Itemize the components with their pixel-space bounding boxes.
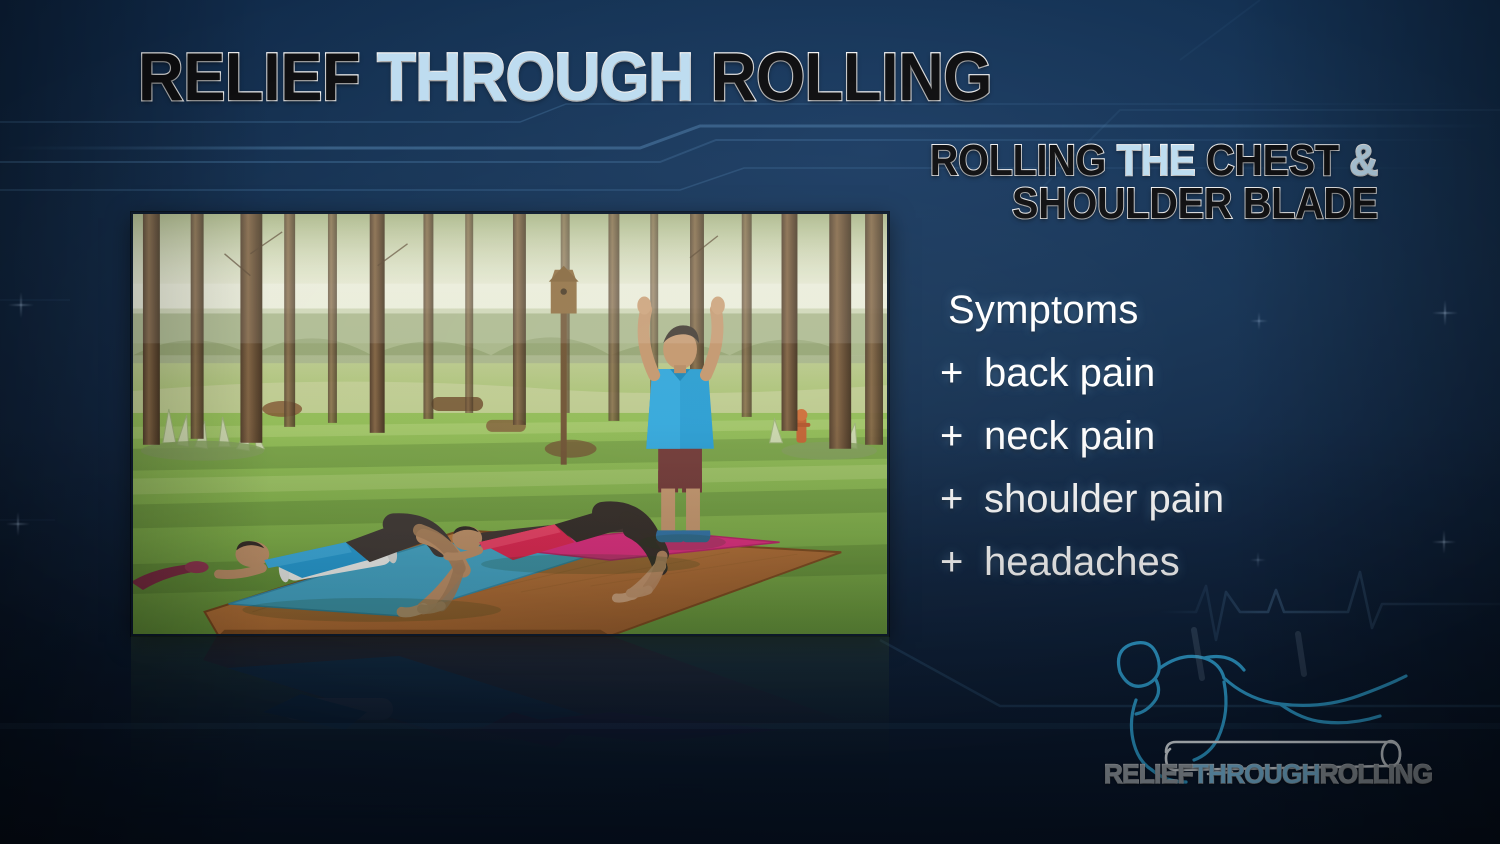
page-title: RELIEF THROUGH ROLLING [138,44,992,111]
logo-word-through: THROUGH [1193,759,1320,789]
logo-word-relief: RELIEF [1104,759,1193,789]
subtitle-word-chest: CHEST [1195,136,1349,185]
title-word-through: THROUGH [377,39,693,115]
sparkle-icon [1432,300,1458,326]
symptoms-heading: Symptoms [948,288,1360,333]
title-word-relief: RELIEF [138,39,377,115]
list-item-label: neck pain [984,414,1155,458]
forest-exercise-photo [133,214,887,636]
symptoms-list: Symptoms +back pain +neck pain +shoulder… [940,288,1360,585]
brand-logo[interactable]: RELIEFTHROUGHROLLING [1098,624,1448,814]
subtitle-line-1: ROLLING THE CHEST & [930,140,1378,183]
sparkle-icon [6,512,30,536]
list-item: +headaches [940,540,1360,585]
list-item-label: headaches [984,540,1180,584]
list-item: +neck pain [940,414,1360,459]
video-frame-reflection [131,636,889,832]
sparkle-icon [8,292,34,318]
logo-word-rolling: ROLLING [1320,759,1433,789]
logo-wordmark: RELIEFTHROUGHROLLING [1104,759,1430,790]
subtitle-word-the: THE [1117,136,1195,185]
plus-icon: + [940,414,984,459]
subtitle-line-2: SHOULDER BLADE [930,183,1378,226]
list-item-label: back pain [984,351,1155,395]
plus-icon: + [940,351,984,396]
subtitle-word-rolling: ROLLING [930,136,1117,185]
title-word-rolling: ROLLING [694,39,992,115]
subtitle-ampersand: & [1350,136,1378,185]
sparkle-icon [1432,530,1456,554]
reflection-image [131,636,889,832]
list-item: +shoulder pain [940,477,1360,522]
list-item-label: shoulder pain [984,477,1224,521]
video-frame[interactable] [131,212,889,636]
subtitle-words-shoulder-blade: SHOULDER BLADE [1012,179,1378,228]
list-item: +back pain [940,351,1360,396]
plus-icon: + [940,477,984,522]
slide-canvas: RELIEF THROUGH ROLLING ROLLING THE CHEST… [0,0,1500,844]
page-subtitle: ROLLING THE CHEST & SHOULDER BLADE [930,140,1378,225]
plus-icon: + [940,540,984,585]
